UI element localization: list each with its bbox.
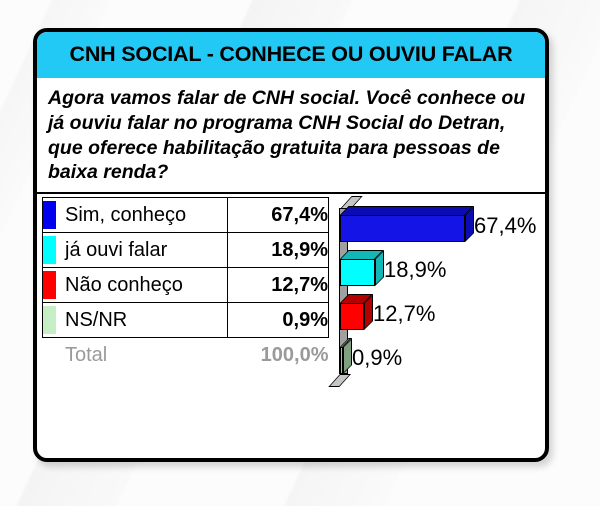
total-label: Total: [65, 338, 228, 373]
legend-swatch-icon: [43, 271, 56, 299]
legend-swatch-icon: [43, 236, 56, 264]
legend-swatch-cell: [43, 233, 66, 268]
legend-swatch-icon: [43, 201, 56, 229]
bar-chart: 67,4% 18,9% 12,7%: [329, 194, 545, 400]
legend-swatch-cell: [43, 198, 66, 233]
bar-front-face: [340, 259, 375, 286]
row-label: NS/NR: [65, 303, 228, 338]
row-value: 12,7%: [228, 268, 329, 303]
total-swatch-cell: [43, 338, 66, 373]
results-table-wrap: Sim, conheço 67,4% já ouvi falar 18,9%: [37, 194, 329, 372]
table-row: já ouvi falar 18,9%: [43, 233, 329, 268]
row-value: 67,4%: [228, 198, 329, 233]
question-box: Agora vamos falar de CNH social. Você co…: [37, 80, 545, 194]
row-value: 18,9%: [228, 233, 329, 268]
legend-swatch-cell: [43, 268, 66, 303]
bar-value-label: 18,9%: [384, 257, 446, 283]
legend-swatch-cell: [43, 303, 66, 338]
bar-value-label: 12,7%: [373, 301, 435, 327]
bar-front-face: [340, 215, 465, 242]
row-label: Não conheço: [65, 268, 228, 303]
total-value: 100,0%: [228, 338, 329, 373]
results-table: Sim, conheço 67,4% já ouvi falar 18,9%: [42, 197, 329, 372]
table-total-row: Total 100,0%: [43, 338, 329, 373]
card-title-bar: CNH SOCIAL - CONHECE OU OUVIU FALAR: [37, 32, 545, 80]
results-body: Sim, conheço 67,4% já ouvi falar 18,9%: [37, 194, 545, 400]
bar-value-label: 0,9%: [352, 345, 402, 371]
row-label: Sim, conheço: [65, 198, 228, 233]
page-title: CNH SOCIAL - CONHECE OU OUVIU FALAR: [51, 41, 531, 67]
legend-swatch-icon: [43, 306, 56, 334]
bar-front-face: [340, 303, 364, 330]
row-label: já ouvi falar: [65, 233, 228, 268]
axis-wall-bottom-icon: [328, 374, 351, 387]
bar-value-label: 67,4%: [474, 213, 536, 239]
result-card: CNH SOCIAL - CONHECE OU OUVIU FALAR Agor…: [33, 28, 549, 462]
table-row: Não conheço 12,7%: [43, 268, 329, 303]
table-row: NS/NR 0,9%: [43, 303, 329, 338]
bar-top-face: [340, 206, 474, 215]
question-text: Agora vamos falar de CNH social. Você co…: [48, 86, 535, 185]
table-row: Sim, conheço 67,4%: [43, 198, 329, 233]
row-value: 0,9%: [228, 303, 329, 338]
bar-chart-plot: 67,4% 18,9% 12,7%: [331, 196, 543, 396]
